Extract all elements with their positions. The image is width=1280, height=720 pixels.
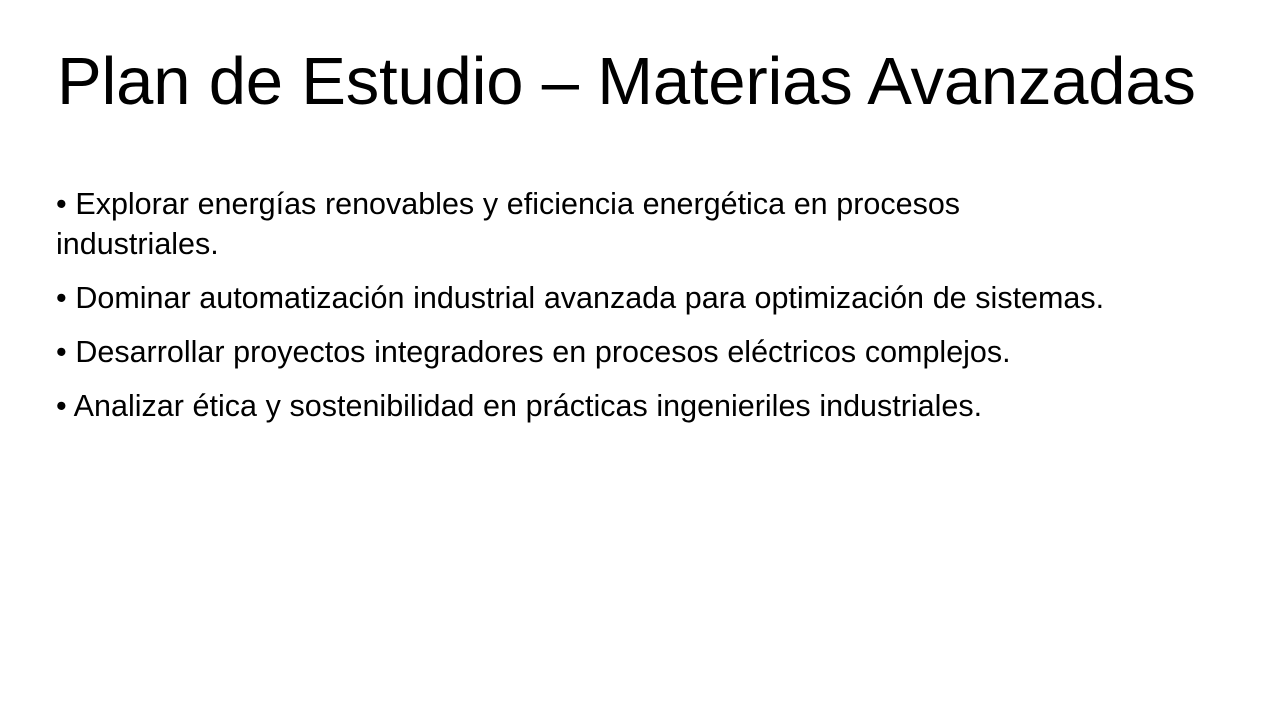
slide-title: Plan de Estudio – Materias Avanzadas — [57, 47, 1227, 117]
bullet-item-1: • Explorar energías renovables y eficien… — [56, 184, 1128, 264]
bullet-item-3: • Desarrollar proyectos integradores en … — [56, 332, 1128, 372]
slide-body-content: • Explorar energías renovables y eficien… — [56, 184, 1128, 426]
bullet-item-2: • Dominar automatización industrial avan… — [56, 278, 1128, 318]
presentation-slide: Plan de Estudio – Materias Avanzadas • E… — [0, 0, 1280, 720]
bullet-item-4: • Analizar ética y sostenibilidad en prá… — [56, 386, 1128, 426]
